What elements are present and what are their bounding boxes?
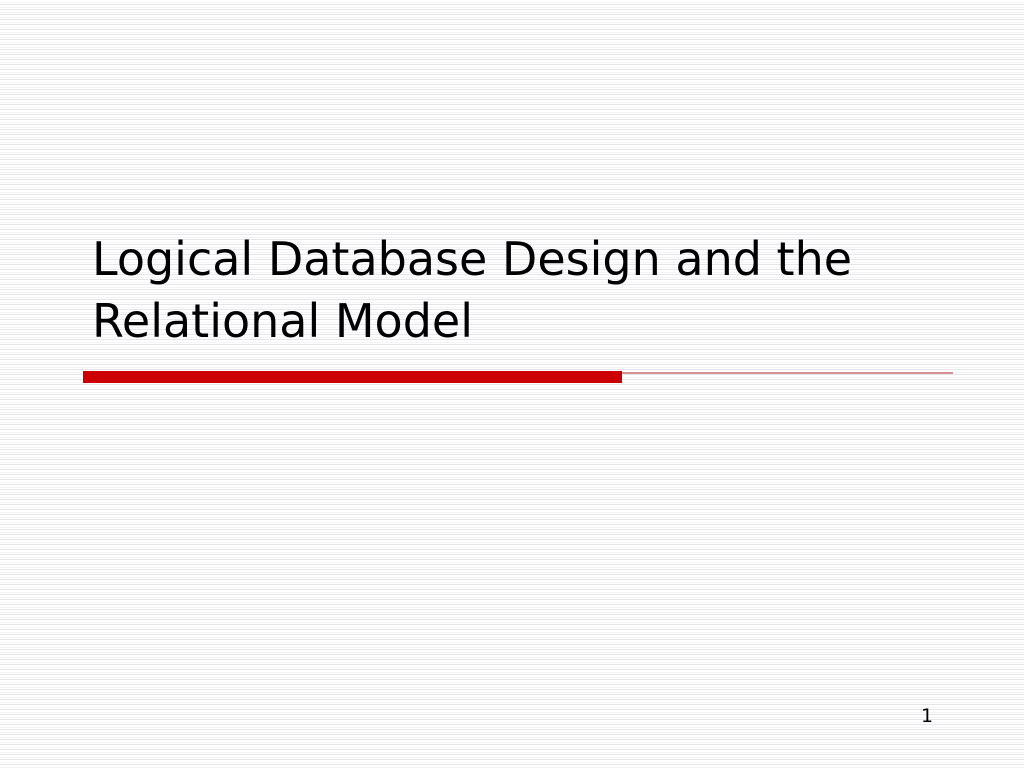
title-block: Logical Database Design and the Relation… [92,228,952,352]
slide-number: 1 [900,704,954,728]
slide-canvas: Logical Database Design and the Relation… [0,0,1024,768]
divider-accent-bar [83,371,622,383]
page-title: Logical Database Design and the Relation… [92,228,952,352]
title-divider [83,366,953,384]
